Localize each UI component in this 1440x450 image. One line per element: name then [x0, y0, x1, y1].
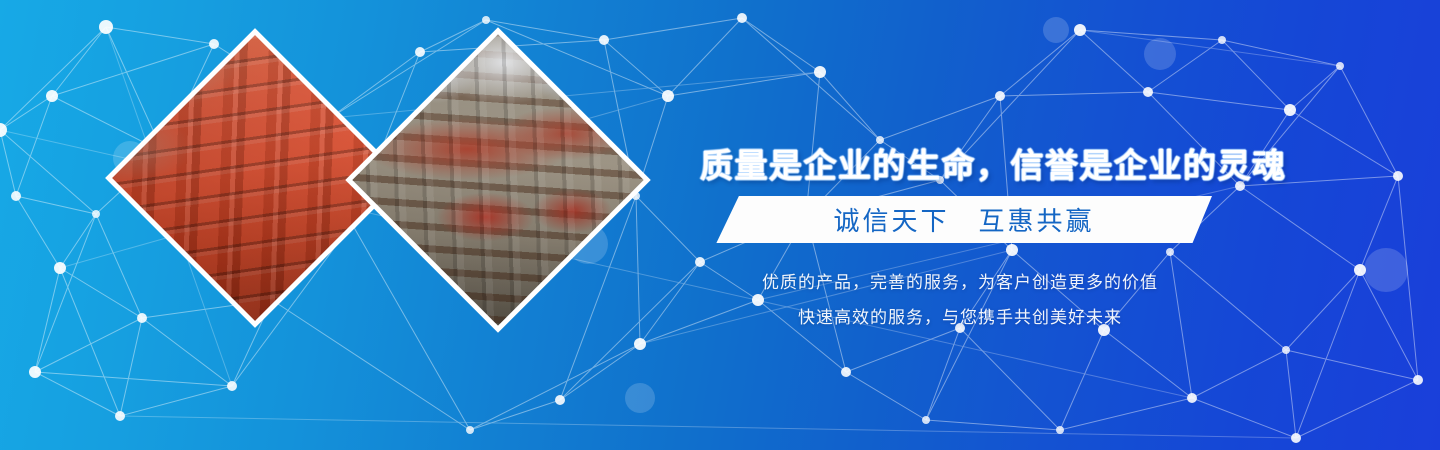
slogan-ribbon-text: 诚信天下 互惠共赢	[833, 201, 1094, 238]
banner-copy-block: 质量是企业的生命，信誉是企业的灵魂 诚信天下 互惠共赢 优质的产品，完善的服务，…	[700, 0, 1280, 450]
banner-subtext-line-1: 优质的产品，完善的服务，为客户创造更多的价值	[700, 268, 1220, 293]
banner-headline: 质量是企业的生命，信誉是企业的灵魂	[700, 139, 1252, 187]
drive-shafts-on-pallets-image	[352, 34, 643, 325]
promotional-banner: 质量是企业的生命，信誉是企业的灵魂 诚信天下 互惠共赢 优质的产品，完善的服务，…	[0, 0, 1440, 450]
banner-subtext-line-2: 快速高效的服务，与您携手共创美好未来	[700, 303, 1220, 328]
photo-frame	[352, 34, 643, 325]
product-photo-diamond-right[interactable]	[345, 27, 650, 332]
slogan-ribbon: 诚信天下 互惠共赢	[700, 196, 1212, 243]
